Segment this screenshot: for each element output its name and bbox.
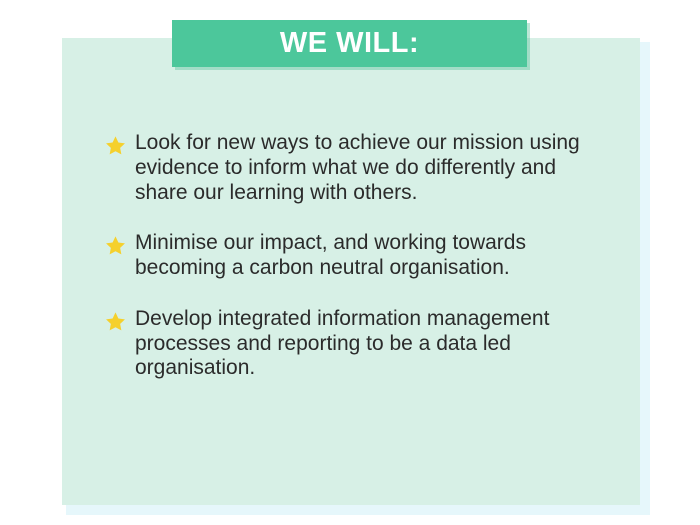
slide-canvas: WE WILL: Look for new ways to achieve ou…: [0, 0, 700, 525]
bullet-list: Look for new ways to achieve our mission…: [105, 131, 605, 381]
list-item: Minimise our impact, and working towards…: [105, 231, 605, 281]
star-icon: [105, 234, 126, 257]
list-item: Develop integrated information managemen…: [105, 307, 605, 381]
title-band: WE WILL:: [172, 20, 527, 67]
star-icon: [105, 134, 126, 157]
list-item-text: Minimise our impact, and working towards…: [135, 231, 605, 281]
list-item-text: Look for new ways to achieve our mission…: [135, 131, 605, 205]
page-title: WE WILL:: [280, 29, 419, 58]
list-item-text: Develop integrated information managemen…: [135, 307, 605, 381]
list-item: Look for new ways to achieve our mission…: [105, 131, 605, 205]
star-icon: [105, 310, 126, 333]
